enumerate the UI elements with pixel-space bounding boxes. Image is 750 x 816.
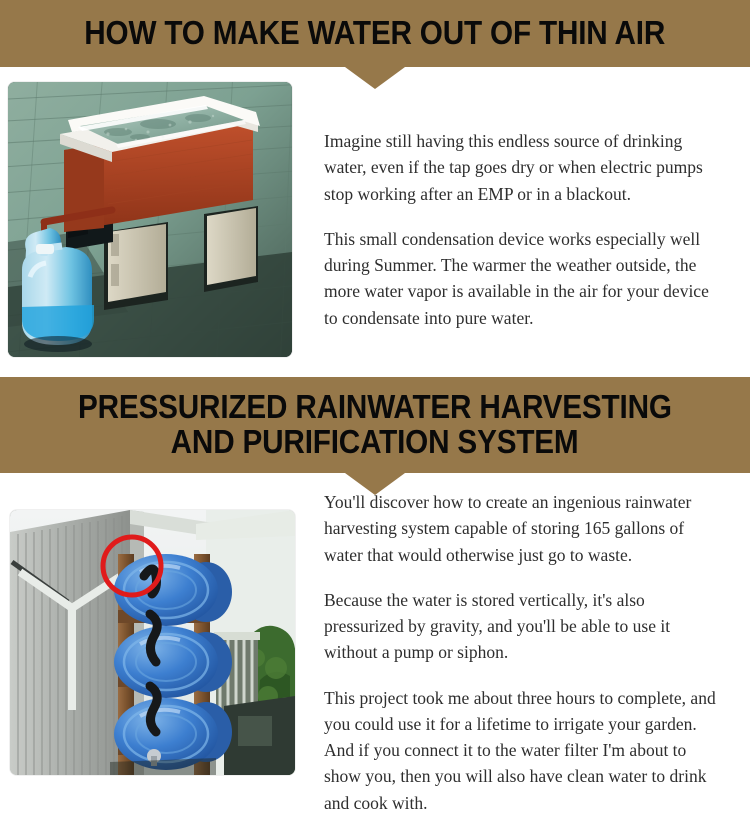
- section-two-banner-title-line-1: PRESSURIZED RAINWATER HARVESTING: [78, 390, 672, 425]
- section-two-paragraph-1: You'll discover how to create an ingenio…: [324, 489, 724, 568]
- section-one-text-column: Imagine still having this endless source…: [324, 128, 724, 331]
- section-two-banner-title-line-2: AND PURIFICATION SYSTEM: [171, 425, 579, 460]
- section-one-banner-title: HOW TO MAKE WATER OUT OF THIN AIR: [85, 16, 666, 51]
- section-one-paragraph-1: Imagine still having this endless source…: [324, 128, 724, 207]
- section-one-banner-pointer: [345, 67, 405, 89]
- section-two-text-column: You'll discover how to create an ingenio…: [324, 489, 724, 816]
- condensation-device-photo: [8, 82, 292, 357]
- section-one-paragraph-2: This small condensation device works esp…: [324, 226, 724, 331]
- section-one-banner: HOW TO MAKE WATER OUT OF THIN AIR: [0, 0, 750, 67]
- section-two-paragraph-3: This project took me about three hours t…: [324, 685, 724, 816]
- rainwater-barrels-photo: [10, 510, 295, 775]
- section-two-banner: PRESSURIZED RAINWATER HARVESTING AND PUR…: [0, 377, 750, 473]
- section-two-paragraph-2: Because the water is stored vertically, …: [324, 587, 724, 666]
